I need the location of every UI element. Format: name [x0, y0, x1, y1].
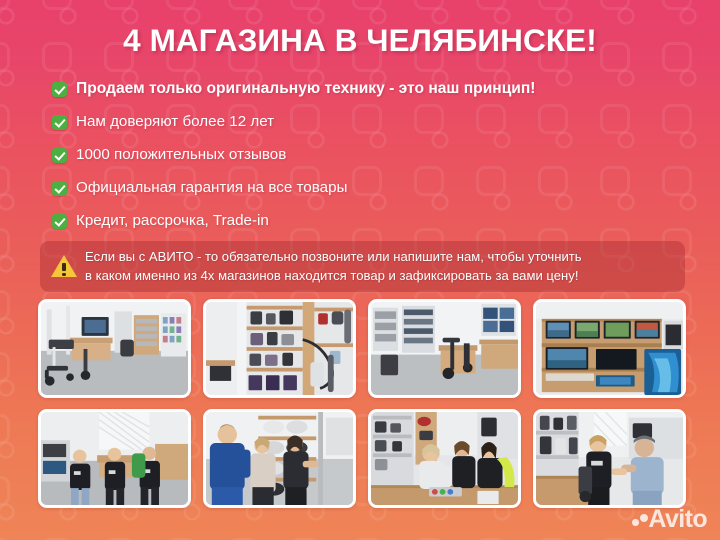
list-item: Нам доверяют более 12 лет — [52, 107, 672, 138]
list-item-label: 1000 положительных отзывов — [76, 146, 286, 164]
store-photo[interactable] — [38, 409, 191, 508]
store-photo[interactable] — [38, 299, 191, 398]
warning-notice-text: Если вы с АВИТО - то обязательно позвони… — [85, 247, 582, 285]
store-photo-gallery — [38, 299, 686, 519]
list-item-label: Нам доверяют более 12 лет — [76, 113, 274, 131]
photo-row-2 — [38, 409, 686, 508]
promo-banner: 4 МАГАЗИНА В ЧЕЛЯБИНСКЕ! Продаем только … — [0, 0, 720, 540]
list-item: Официальная гарантия на все товары — [52, 173, 672, 204]
warning-triangle-icon — [51, 254, 77, 278]
warning-notice: Если вы с АВИТО - то обязательно позвони… — [40, 241, 685, 292]
avito-logo-icon — [632, 511, 647, 528]
green-check-icon — [52, 115, 67, 130]
green-check-icon — [52, 181, 67, 196]
store-photo[interactable] — [203, 299, 356, 398]
list-item: Продаем только оригинальную технику - эт… — [52, 74, 672, 105]
store-photo[interactable] — [533, 409, 686, 508]
page-title: 4 МАГАЗИНА В ЧЕЛЯБИНСКЕ! — [0, 22, 720, 59]
green-check-icon — [52, 214, 67, 229]
store-photo[interactable] — [203, 409, 356, 508]
warning-notice-line-2: в каком именно из 4х магазинов находится… — [85, 266, 582, 285]
avito-watermark-label: Avito — [648, 507, 707, 532]
list-item: 1000 положительных отзывов — [52, 140, 672, 171]
avito-watermark: Avito — [632, 507, 707, 532]
store-photo[interactable] — [368, 409, 521, 508]
photo-row-1 — [38, 299, 686, 398]
green-check-icon — [52, 148, 67, 163]
benefits-list: Продаем только оригинальную технику - эт… — [52, 74, 672, 239]
list-item: Кредит, рассрочка, Trade-in — [52, 206, 672, 237]
list-item-label: Официальная гарантия на все товары — [76, 179, 347, 197]
green-check-icon — [52, 82, 67, 97]
list-item-label: Кредит, рассрочка, Trade-in — [76, 212, 269, 230]
warning-notice-line-1: Если вы с АВИТО - то обязательно позвони… — [85, 247, 582, 266]
list-item-label: Продаем только оригинальную технику - эт… — [76, 80, 535, 99]
store-photo[interactable] — [368, 299, 521, 398]
store-photo[interactable] — [533, 299, 686, 398]
